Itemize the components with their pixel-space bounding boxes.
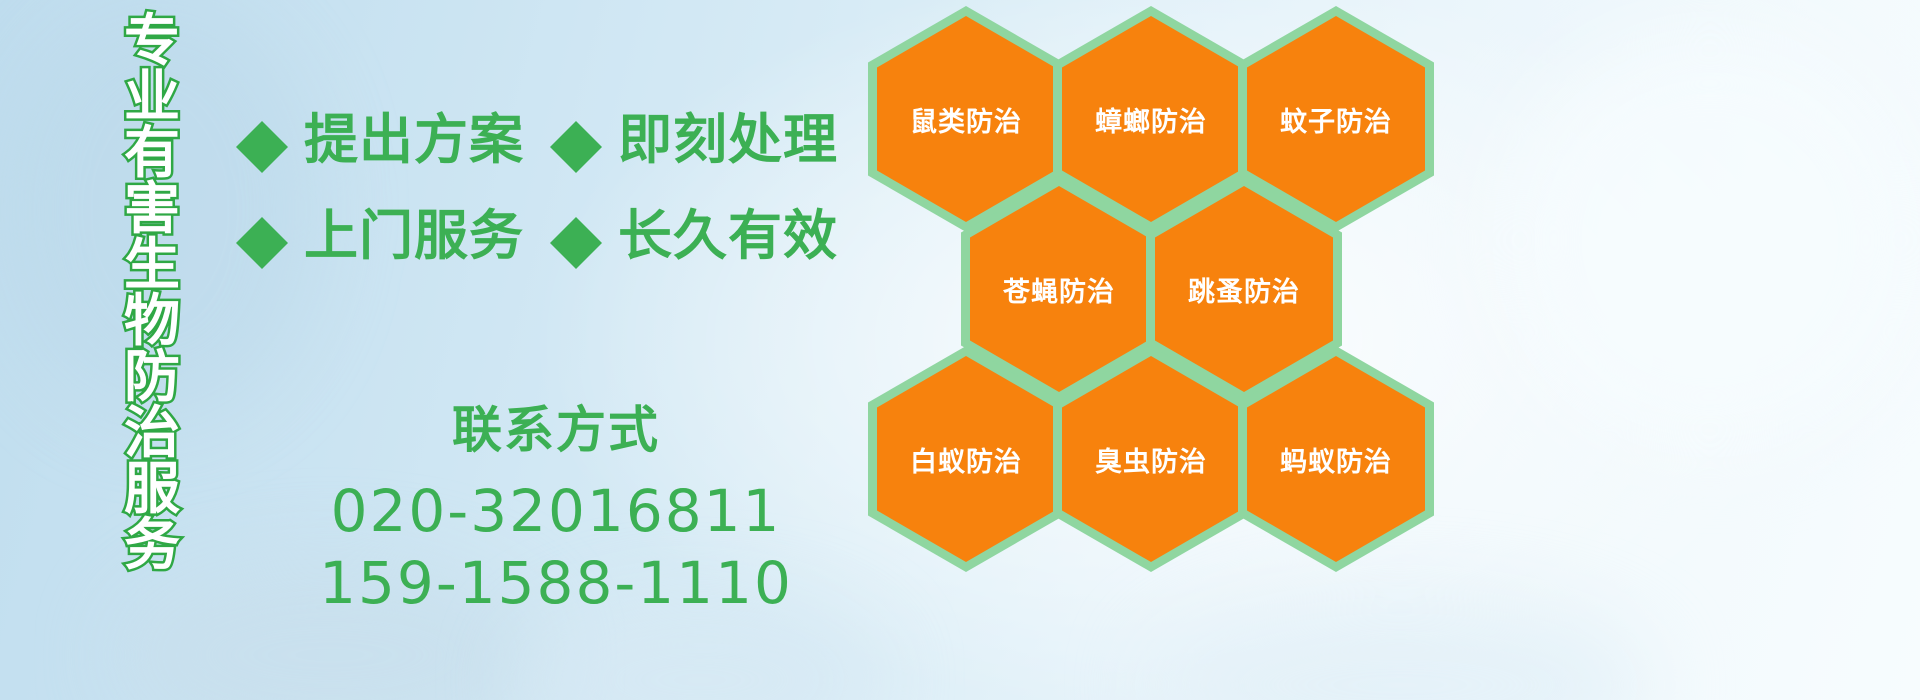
feature-label: 提出方案 [304,95,524,174]
vertical-headline-char: 业 [124,70,180,126]
hex-label: 蚊子防治 [1280,100,1392,139]
vertical-headline-char: 治 [124,406,180,462]
pest-control-banner: 专 业 有 害 生 物 防 治 服 务 提出方案 即刻处理 上门服务 [0,0,1920,700]
hex-label: 鼠类防治 [910,100,1022,139]
feature-row: 提出方案 即刻处理 [236,86,866,182]
hex-label: 蚂蚁防治 [1280,440,1392,479]
contact-heading: 联系方式 [236,390,876,462]
feature-row: 上门服务 长久有效 [236,182,866,278]
feature-label: 上门服务 [304,191,524,270]
vertical-headline-char: 专 [124,14,180,70]
vertical-headline-char: 物 [124,294,180,350]
vertical-headline-char: 防 [124,350,180,406]
feature-label: 长久有效 [618,191,838,270]
service-hexagon-grid: 鼠类防治 蟑螂防治 蚊子防治 苍蝇防治 跳蚤防治 白蚁防治 臭虫防治 [856,0,1496,700]
background-blur-top-right [1500,30,1920,450]
hex-label: 臭虫防治 [1095,440,1207,479]
vertical-headline-char: 害 [124,182,180,238]
feature-item-propose-plan: 提出方案 [236,95,524,174]
feature-item-long-lasting-effect: 长久有效 [550,191,838,270]
hex-label: 蟑螂防治 [1095,100,1207,139]
contact-phone-mobile[interactable]: 159-1588-1110 [236,548,876,620]
contact-block: 联系方式 020-32016811 159-1588-1110 [236,390,876,620]
vertical-headline-char: 有 [124,126,180,182]
vertical-headline-char: 服 [124,462,180,518]
diamond-icon [550,191,602,243]
hex-label: 跳蚤防治 [1188,270,1300,309]
feature-list: 提出方案 即刻处理 上门服务 长久有效 [236,86,866,278]
feature-item-door-to-door-service: 上门服务 [236,191,524,270]
vertical-headline-char: 生 [124,238,180,294]
vertical-headline: 专 业 有 害 生 物 防 治 服 务 [104,14,200,554]
diamond-icon [236,95,288,147]
vertical-headline-char: 务 [124,518,180,574]
diamond-icon [236,191,288,243]
diamond-icon [550,95,602,147]
feature-label: 即刻处理 [618,95,838,174]
feature-item-immediate-handling: 即刻处理 [550,95,838,174]
hex-label: 苍蝇防治 [1003,270,1115,309]
hex-label: 白蚁防治 [910,440,1022,479]
contact-phone-landline[interactable]: 020-32016811 [236,476,876,548]
